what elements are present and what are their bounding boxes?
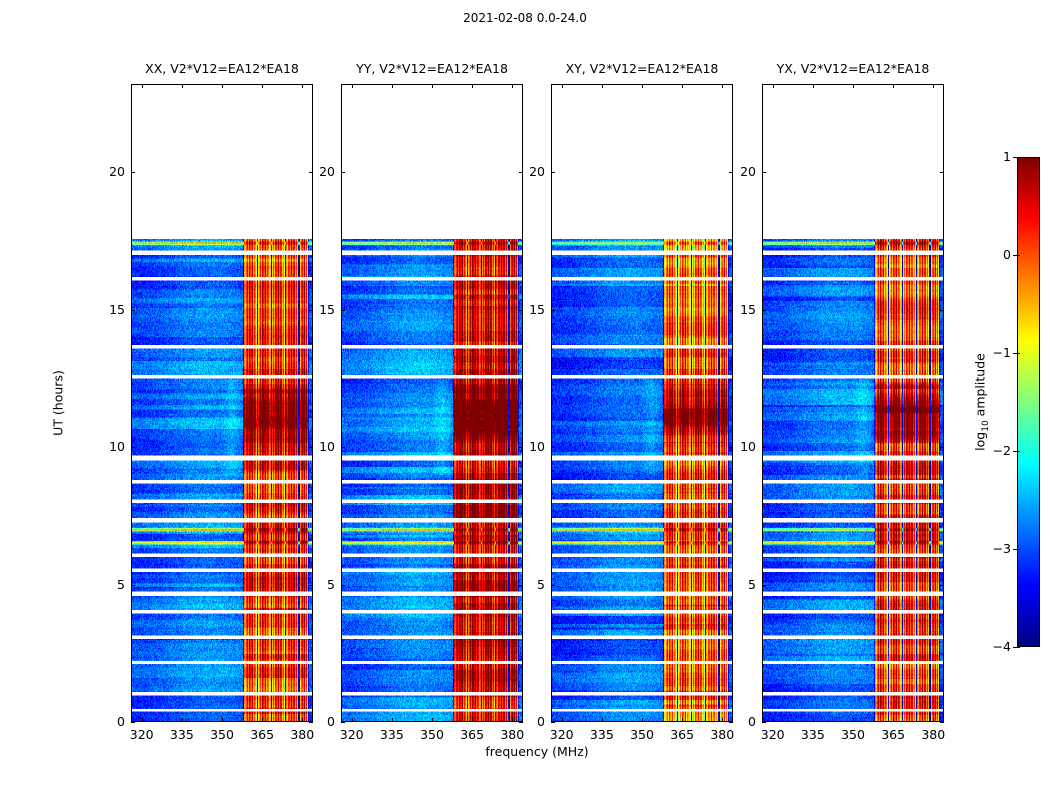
x-ticklabel-xy-4: 380 [710, 728, 734, 742]
y-tick-right-xy-0 [729, 722, 733, 723]
x-tick-top-xx-2 [222, 84, 223, 88]
x-tick-top-xx-3 [262, 84, 263, 88]
x-ticklabel-xx-3: 365 [250, 728, 274, 742]
x-ticklabel-xx-4: 380 [290, 728, 314, 742]
x-tick-xy-2 [642, 718, 643, 722]
axes-frame-yx [762, 84, 944, 722]
panel-title-yy: YY, V2*V12=EA12*EA18 [341, 62, 523, 76]
figure-canvas: 2021-02-08 0.0-24.0 XX, V2*V12=EA12*EA18… [0, 0, 1050, 800]
x-ticklabel-xy-3: 365 [670, 728, 694, 742]
y-tick-right-xx-3 [309, 310, 313, 311]
x-tick-top-xy-4 [722, 84, 723, 88]
x-ticklabel-yx-1: 335 [801, 728, 825, 742]
x-ticklabel-yx-2: 350 [841, 728, 865, 742]
x-tick-yy-3 [472, 718, 473, 722]
y-tick-yx-4 [762, 172, 766, 173]
x-tick-xx-3 [262, 718, 263, 722]
x-ticklabel-yy-2: 350 [420, 728, 444, 742]
y-tick-xy-0 [551, 722, 555, 723]
x-tick-yx-4 [933, 718, 934, 722]
x-ticklabel-xx-2: 350 [210, 728, 234, 742]
y-tick-yy-2 [341, 447, 345, 448]
y-tick-yx-1 [762, 585, 766, 586]
y-tick-right-xx-1 [309, 585, 313, 586]
x-tick-yx-3 [893, 718, 894, 722]
colorbar-tick-inner-5 [1017, 157, 1020, 158]
colorbar-ticklabel-5: 1 [1003, 150, 1011, 164]
y-ticklabel-xy-4: 20 [529, 165, 545, 179]
colorbar-label-subscript: 10 [981, 420, 991, 431]
y-tick-right-xy-1 [729, 585, 733, 586]
y-tick-right-yy-2 [519, 447, 523, 448]
x-tick-xx-1 [182, 718, 183, 722]
y-ticklabel-yy-0: 0 [327, 715, 335, 729]
y-tick-yx-0 [762, 722, 766, 723]
y-tick-xy-2 [551, 447, 555, 448]
x-tick-top-yx-0 [773, 84, 774, 88]
x-tick-top-xx-4 [302, 84, 303, 88]
y-ticklabel-yy-2: 10 [319, 440, 335, 454]
panel-yx: YX, V2*V12=EA12*EA1832033535036538005101… [762, 84, 944, 722]
y-ticklabel-xy-3: 15 [529, 303, 545, 317]
y-tick-xx-0 [131, 722, 135, 723]
y-tick-yx-3 [762, 310, 766, 311]
x-tick-top-yy-3 [472, 84, 473, 88]
figure-suptitle: 2021-02-08 0.0-24.0 [0, 11, 1050, 25]
x-tick-top-xx-0 [142, 84, 143, 88]
y-tick-xx-4 [131, 172, 135, 173]
y-ticklabel-yx-0: 0 [748, 715, 756, 729]
y-tick-right-yy-3 [519, 310, 523, 311]
y-tick-right-yy-4 [519, 172, 523, 173]
x-axis-label: frequency (MHz) [131, 744, 943, 759]
y-tick-xy-3 [551, 310, 555, 311]
colorbar-ticklabel-2: −2 [993, 444, 1011, 458]
colorbar-ticklabel-4: 0 [1003, 248, 1011, 262]
y-ticklabel-yy-4: 20 [319, 165, 335, 179]
x-tick-xx-2 [222, 718, 223, 722]
colorbar-tick-inner-3 [1017, 353, 1020, 354]
colorbar-label-base: log [972, 432, 987, 451]
y-tick-xx-1 [131, 585, 135, 586]
x-tick-xx-4 [302, 718, 303, 722]
x-ticklabel-yx-0: 320 [761, 728, 785, 742]
x-ticklabel-xx-1: 335 [170, 728, 194, 742]
y-tick-yy-0 [341, 722, 345, 723]
y-tick-xx-3 [131, 310, 135, 311]
axes-frame-xy [551, 84, 733, 722]
x-tick-top-xy-1 [602, 84, 603, 88]
x-ticklabel-yy-0: 320 [340, 728, 364, 742]
y-tick-yy-1 [341, 585, 345, 586]
y-tick-right-yy-1 [519, 585, 523, 586]
y-ticklabel-xx-3: 15 [109, 303, 125, 317]
spectrogram-image-xy [552, 239, 733, 722]
spectrogram-image-xx [132, 239, 313, 722]
axes-frame-yy [341, 84, 523, 722]
x-tick-top-yx-2 [853, 84, 854, 88]
y-tick-right-xy-4 [729, 172, 733, 173]
y-axis-label: UT (hours) [51, 370, 66, 436]
x-tick-top-yy-0 [352, 84, 353, 88]
colorbar-ticklabel-0: −4 [993, 640, 1011, 654]
y-ticklabel-yx-2: 10 [740, 440, 756, 454]
x-tick-yy-0 [352, 718, 353, 722]
y-tick-yy-3 [341, 310, 345, 311]
colorbar-ticklabel-1: −3 [993, 542, 1011, 556]
x-tick-xx-0 [142, 718, 143, 722]
y-tick-right-yx-2 [940, 447, 944, 448]
axes-frame-xx [131, 84, 313, 722]
y-tick-right-xx-4 [309, 172, 313, 173]
x-tick-top-xy-2 [642, 84, 643, 88]
y-ticklabel-xx-1: 5 [117, 578, 125, 592]
x-ticklabel-yy-3: 365 [460, 728, 484, 742]
x-ticklabel-xy-1: 335 [590, 728, 614, 742]
y-tick-yy-4 [341, 172, 345, 173]
colorbar-tick-inner-0 [1017, 647, 1020, 648]
panel-title-yx: YX, V2*V12=EA12*EA18 [762, 62, 944, 76]
y-tick-xy-1 [551, 585, 555, 586]
x-ticklabel-yx-3: 365 [881, 728, 905, 742]
y-ticklabel-xx-0: 0 [117, 715, 125, 729]
x-tick-top-yy-4 [512, 84, 513, 88]
y-tick-right-xx-2 [309, 447, 313, 448]
x-ticklabel-yy-1: 335 [380, 728, 404, 742]
colorbar-tick-inner-2 [1017, 451, 1020, 452]
spectrogram-image-yy [342, 239, 523, 722]
y-ticklabel-xy-2: 10 [529, 440, 545, 454]
y-tick-right-yx-1 [940, 585, 944, 586]
y-tick-right-xy-3 [729, 310, 733, 311]
y-ticklabel-yx-1: 5 [748, 578, 756, 592]
panel-xy: XY, V2*V12=EA12*EA1832033535036538005101… [551, 84, 733, 722]
x-tick-xy-0 [562, 718, 563, 722]
x-tick-xy-4 [722, 718, 723, 722]
x-tick-yx-2 [853, 718, 854, 722]
x-tick-xy-1 [602, 718, 603, 722]
x-tick-top-yx-1 [813, 84, 814, 88]
y-tick-right-xx-0 [309, 722, 313, 723]
colorbar-label: log10 amplitude [972, 353, 994, 451]
panel-xx: XX, V2*V12=EA12*EA1832033535036538005101… [131, 84, 313, 722]
y-tick-right-yx-3 [940, 310, 944, 311]
x-ticklabel-xy-0: 320 [550, 728, 574, 742]
y-ticklabel-yy-1: 5 [327, 578, 335, 592]
x-tick-top-yy-1 [392, 84, 393, 88]
y-tick-right-yx-0 [940, 722, 944, 723]
x-tick-top-xx-1 [182, 84, 183, 88]
panel-title-xx: XX, V2*V12=EA12*EA18 [131, 62, 313, 76]
x-tick-top-yx-3 [893, 84, 894, 88]
x-tick-top-xy-0 [562, 84, 563, 88]
x-tick-yy-4 [512, 718, 513, 722]
y-ticklabel-xx-4: 20 [109, 165, 125, 179]
x-tick-yx-0 [773, 718, 774, 722]
y-tick-right-xy-2 [729, 447, 733, 448]
x-tick-top-yy-2 [432, 84, 433, 88]
y-ticklabel-xy-1: 5 [537, 578, 545, 592]
y-tick-xx-2 [131, 447, 135, 448]
colorbar-tick-inner-4 [1017, 255, 1020, 256]
y-tick-yx-2 [762, 447, 766, 448]
x-tick-yy-1 [392, 718, 393, 722]
y-ticklabel-yx-4: 20 [740, 165, 756, 179]
y-ticklabel-xy-0: 0 [537, 715, 545, 729]
x-tick-top-xy-3 [682, 84, 683, 88]
y-ticklabel-xx-2: 10 [109, 440, 125, 454]
colorbar-gradient [1017, 157, 1040, 647]
x-tick-yx-1 [813, 718, 814, 722]
colorbar-ticklabel-3: −1 [993, 346, 1011, 360]
x-ticklabel-yx-4: 380 [921, 728, 945, 742]
y-tick-right-yx-4 [940, 172, 944, 173]
x-tick-xy-3 [682, 718, 683, 722]
spectrogram-image-yx [763, 239, 944, 722]
panel-title-xy: XY, V2*V12=EA12*EA18 [551, 62, 733, 76]
colorbar: −4−3−2−101 [1017, 157, 1040, 647]
x-tick-yy-2 [432, 718, 433, 722]
y-tick-xy-4 [551, 172, 555, 173]
x-ticklabel-xy-2: 350 [630, 728, 654, 742]
colorbar-label-rest: amplitude [972, 353, 987, 420]
colorbar-tick-inner-1 [1017, 549, 1020, 550]
y-ticklabel-yx-3: 15 [740, 303, 756, 317]
y-tick-right-yy-0 [519, 722, 523, 723]
panel-yy: YY, V2*V12=EA12*EA1832033535036538005101… [341, 84, 523, 722]
x-tick-top-yx-4 [933, 84, 934, 88]
y-ticklabel-yy-3: 15 [319, 303, 335, 317]
x-ticklabel-xx-0: 320 [130, 728, 154, 742]
x-ticklabel-yy-4: 380 [500, 728, 524, 742]
